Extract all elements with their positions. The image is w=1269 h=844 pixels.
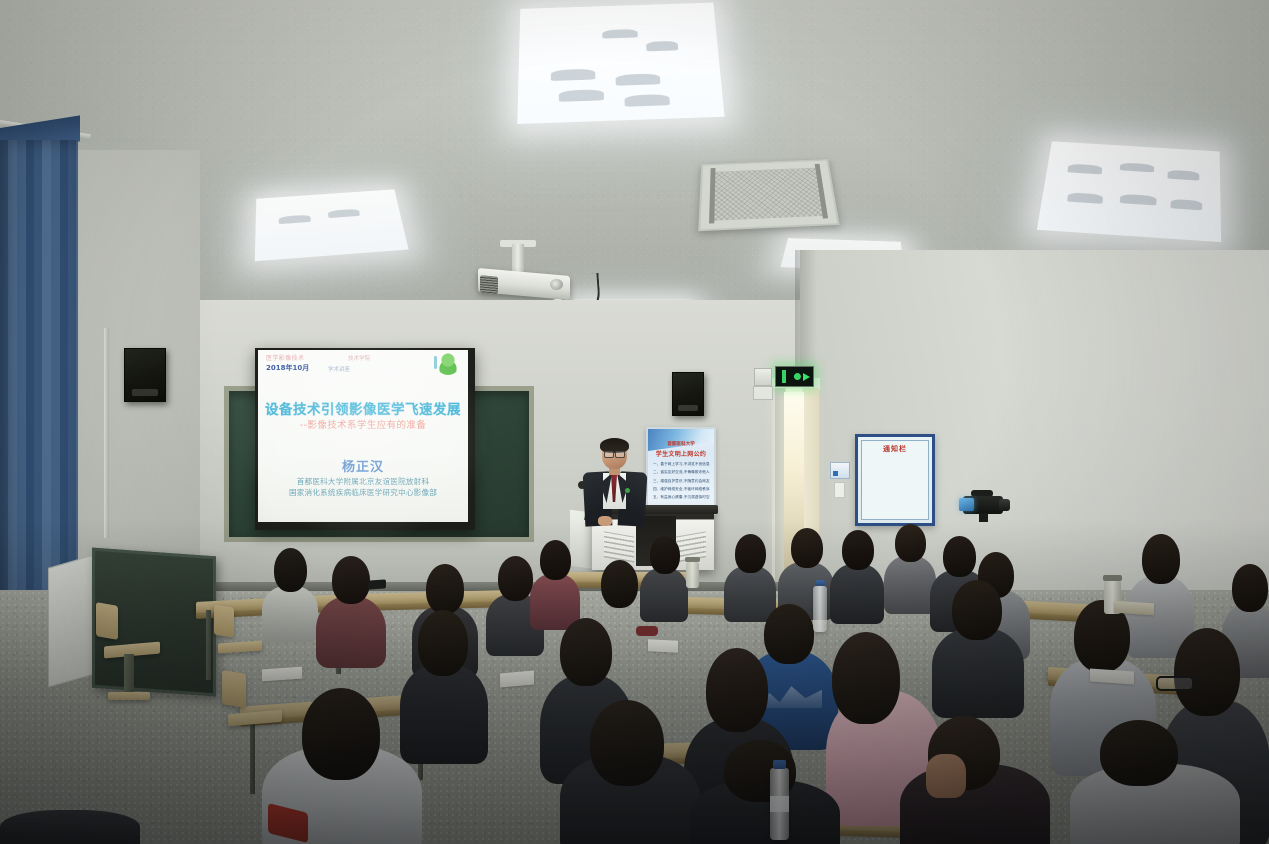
student-head [302,688,380,780]
student-torso [830,564,884,624]
student-head [735,534,766,573]
student-head [1142,534,1180,584]
wall-conduit [104,328,109,538]
student [560,700,700,844]
student-head [791,528,823,568]
student-torso [0,810,140,844]
cup-lid [685,557,700,562]
student-head [706,648,768,732]
slide-date-faint: 学术讲座 [328,365,350,373]
student-torso [640,568,688,622]
student-conduct-poster: 首都医科大学 学生文明上网公约 一、善于网上学习,不浏览不良信息 二、诚实友好交… [646,427,716,515]
desk-leg [206,610,211,680]
thermos-cup[interactable] [686,562,699,588]
student [1070,720,1240,844]
student-torso [262,586,318,642]
notebook-paper[interactable] [648,639,678,653]
student-head [601,560,638,608]
wall-speaker-right [672,372,704,416]
student-head [952,580,1002,640]
student [316,556,386,666]
slide-header-left: 医学影像技术 [266,353,304,362]
student-head [560,618,612,686]
cup-lid [1103,575,1122,581]
student-hoodie [316,596,386,668]
poster-heading-main: 学生文明上网公约 [648,449,714,458]
chair-post [124,654,134,696]
slide-date-line: 2018年10月 [266,363,309,373]
video-camera[interactable] [955,488,1011,530]
student [932,580,1024,710]
presenter [578,440,650,530]
projector-vent [480,275,498,294]
ac-grille [710,168,826,221]
lecture-hall-photo: 医学影像技术 技术学院 2018年10月 学术讲座 设备技术引领影像医学飞速发展… [0,0,1269,844]
ceiling-projector [478,266,570,296]
student-head [498,556,533,601]
exit-arrow-icon [803,373,810,381]
pencil-case[interactable] [636,626,658,636]
student-head [590,700,664,786]
student [830,530,884,620]
poster-heading-small: 首都医科大学 [648,441,714,447]
student-head [1232,564,1268,612]
student-head [895,524,926,562]
eyeglasses-icon [1156,676,1194,691]
water-bottle[interactable] [770,768,789,840]
slide-affiliation-line2: 国家消化系统疾病临床医学研究中心影像部 [258,487,468,498]
chair-back [222,670,246,708]
student-head [1100,720,1178,786]
poster-line: 一、善于网上学习,不浏览不良信息 [653,462,709,467]
camera-lcd-screen [959,498,974,511]
bottle-label [770,796,789,812]
projector-mount-arm [512,244,524,272]
student [530,540,580,626]
ceiling-light-panel-2 [1037,141,1221,242]
student [640,536,688,616]
student [262,688,422,844]
student-head [332,556,370,604]
wall-speaker-left [124,348,166,402]
student [884,524,936,610]
chair-base [108,692,150,700]
student [900,716,1050,844]
poster-line: 四、维护网络安全,不破坏网络秩序 [653,487,709,492]
chair-back [96,602,118,640]
lectern-vent-left [604,531,634,562]
student [690,740,840,844]
bottle-cap [816,580,825,586]
ceiling-air-conditioner [698,159,840,231]
student [262,548,318,638]
student-head [540,540,571,580]
bottle-cap [773,760,786,769]
presenter-glasses [604,451,625,456]
slide-header-left-faint: 技术学院 [348,354,370,362]
emergency-exit-sign-icon [775,366,814,387]
slide-affiliation-line1: 首都医科大学附属北京友谊医院放射科 [258,476,468,487]
ceiling-light-panel-1 [517,3,724,124]
wall-control-box-lower[interactable] [753,386,773,400]
student-torso [932,628,1024,718]
notice-board-title: 通知栏 [858,444,932,454]
slide-title: 设备技术引领影像医学飞速发展 [258,398,468,418]
projection-screen: 医学影像技术 技术学院 2018年10月 学术讲座 设备技术引领影像医学飞速发展… [258,350,468,522]
student-torso [884,556,936,614]
desk-leg [250,714,255,794]
student-head [832,632,900,724]
wall-info-sign [830,462,850,479]
poster-body: 一、善于网上学习,不浏览不良信息 二、诚实友好交流,不侮辱欺诈他人 三、增强自护… [653,462,709,503]
poster-line: 二、诚实友好交流,不侮辱欺诈他人 [653,470,709,475]
student-head [1174,628,1240,716]
student-head [842,530,874,570]
wall-control-box[interactable] [754,368,772,386]
chair-back [214,605,234,638]
slide-presenter-name: 杨正汉 [258,456,468,475]
notebook-paper[interactable] [500,671,534,688]
poster-banner [648,429,714,451]
camera-lens [999,499,1010,511]
poster-line: 五、有益身心健康,不沉溺虚拟时空 [653,495,709,500]
mobile-phone[interactable] [368,579,386,589]
student-hand [926,754,966,798]
student [0,800,140,844]
student-head [426,564,464,614]
ceiling-light-panel-3 [255,189,409,261]
slide-subtitle: --影像技术系学生应有的准备 [258,417,468,431]
notice-board: 通知栏 [855,434,935,526]
light-switch-plate[interactable] [834,482,845,498]
presenter-hand [598,516,612,526]
camera-tripod-mount [979,513,988,522]
water-bottle[interactable] [813,586,827,632]
green-circle-logo-icon [436,351,460,375]
presenter-badge [625,488,630,493]
student-head [418,610,468,676]
student-head [650,536,680,574]
poster-line: 三、增强自护意识,不随意约会网友 [653,479,709,484]
student-head [274,548,307,592]
